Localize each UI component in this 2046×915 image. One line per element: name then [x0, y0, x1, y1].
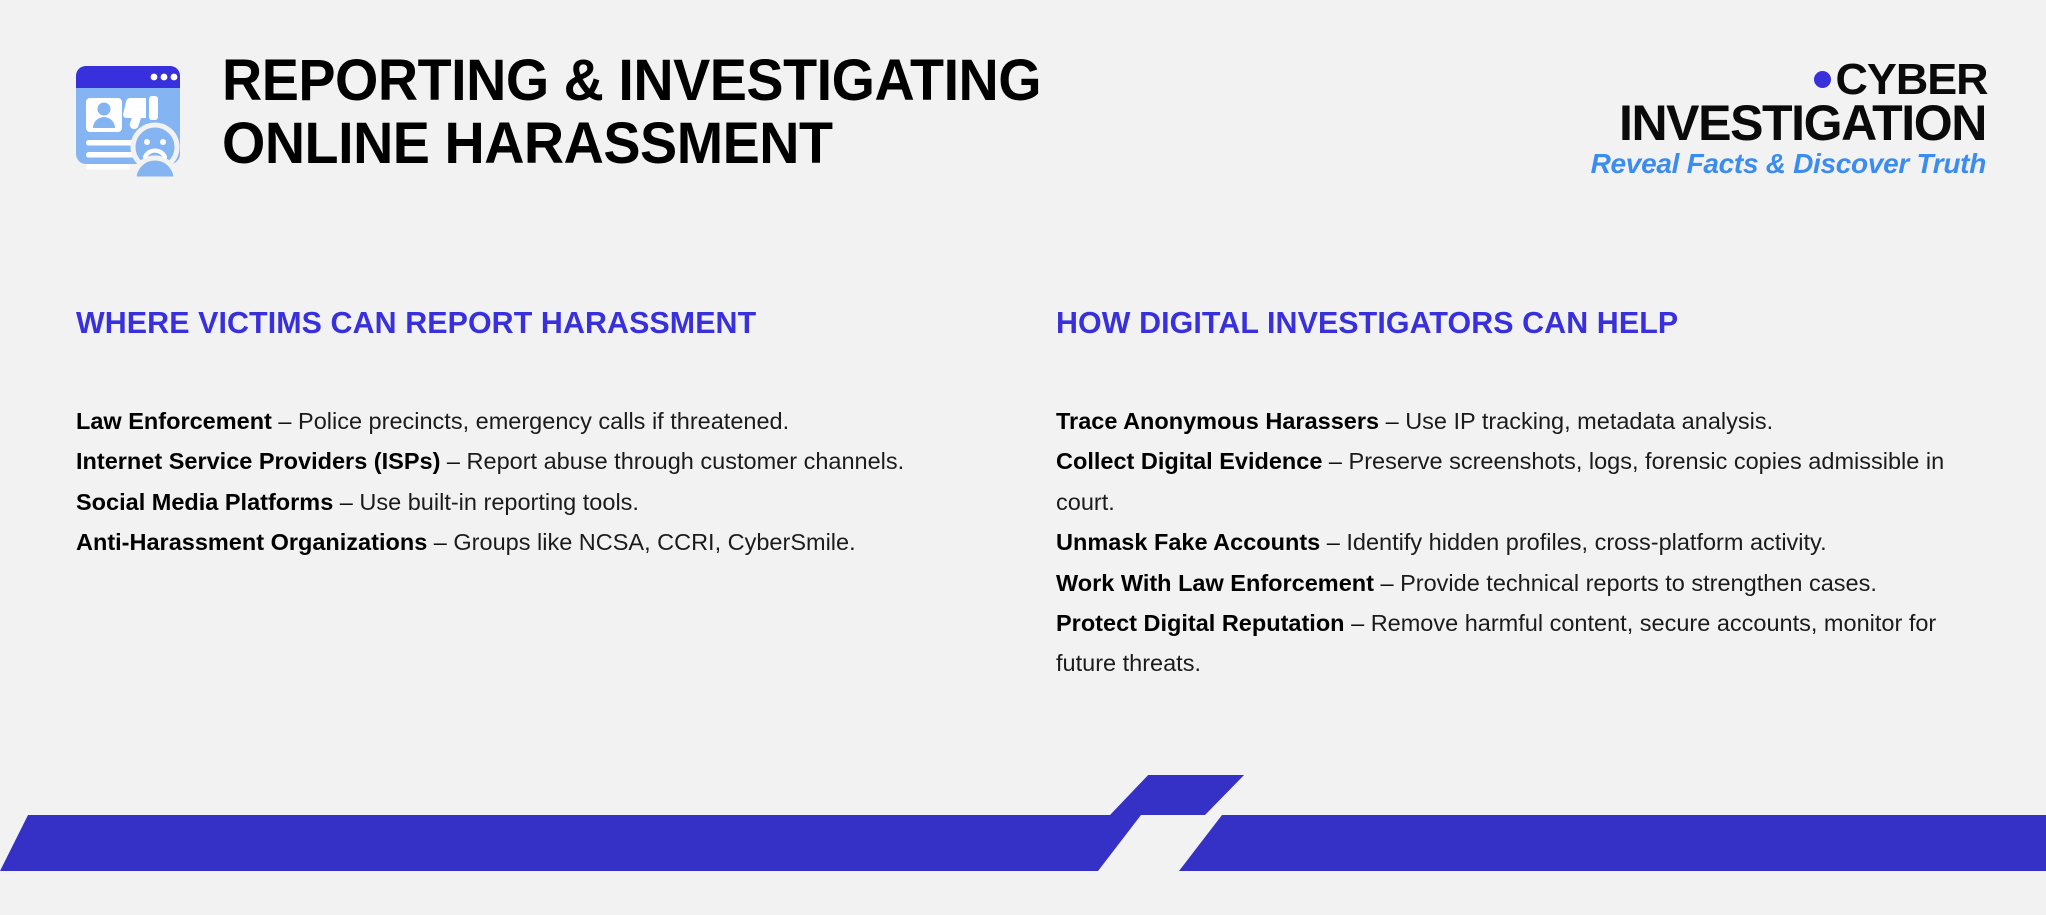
- brand-logo[interactable]: CYBER INVESTIGATION Reveal Facts & Disco…: [1591, 58, 1986, 178]
- list-item: Trace Anonymous Harassers – Use IP track…: [1056, 401, 1956, 441]
- list-item-term: Work With Law Enforcement: [1056, 570, 1374, 596]
- list-item-dash: –: [427, 529, 453, 555]
- list-item-term: Collect Digital Evidence: [1056, 448, 1322, 474]
- list-item-description: Identify hidden profiles, cross-platform…: [1346, 529, 1826, 555]
- column-heading-left: WHERE VICTIMS CAN REPORT HARASSMENT: [76, 305, 1036, 341]
- list-item-term: Protect Digital Reputation: [1056, 610, 1345, 636]
- logo-word-cyber: CYBER: [1835, 58, 1987, 102]
- list-item-description: Report abuse through customer channels.: [467, 448, 905, 474]
- band-left-segment: [0, 815, 1141, 871]
- list-item-description: Use IP tracking, metadata analysis.: [1405, 408, 1773, 434]
- list-item-dash: –: [440, 448, 466, 474]
- list-item-description: Groups like NCSA, CCRI, CyberSmile.: [453, 529, 855, 555]
- list-item-dash: –: [272, 408, 298, 434]
- title-group: REPORTING & INVESTIGATING ONLINE HARASSM…: [72, 50, 1075, 180]
- list-item: Law Enforcement – Police precincts, emer…: [76, 401, 976, 441]
- list-item: Protect Digital Reputation – Remove harm…: [1056, 603, 1956, 684]
- list-item: Unmask Fake Accounts – Identify hidden p…: [1056, 522, 1956, 562]
- bottom-blue-band-with-parallelogram: [0, 775, 2046, 915]
- logo-tagline: Reveal Facts & Discover Truth: [1591, 150, 1986, 178]
- list-item-dash: –: [333, 489, 359, 515]
- column-how-investigators-help: HOW DIGITAL INVESTIGATORS CAN HELP Trace…: [1056, 305, 2036, 684]
- bullet-list-left: Law Enforcement – Police precincts, emer…: [76, 401, 1056, 563]
- logo-dot-icon: [1814, 71, 1831, 88]
- list-item: Anti-Harassment Organizations – Groups l…: [76, 522, 976, 562]
- bullet-list-right: Trace Anonymous Harassers – Use IP track…: [1056, 401, 2036, 684]
- list-item: Work With Law Enforcement – Provide tech…: [1056, 563, 1956, 603]
- column-where-to-report: WHERE VICTIMS CAN REPORT HARASSMENT Law …: [76, 305, 1056, 684]
- band-right-segment: [1179, 815, 2046, 871]
- list-item-description: Police precincts, emergency calls if thr…: [298, 408, 789, 434]
- list-item-term: Anti-Harassment Organizations: [76, 529, 427, 555]
- list-item-dash: –: [1320, 529, 1346, 555]
- list-item-dash: –: [1322, 448, 1348, 474]
- online-harassment-report-icon: [72, 62, 184, 180]
- list-item-term: Unmask Fake Accounts: [1056, 529, 1320, 555]
- list-item-dash: –: [1374, 570, 1400, 596]
- page-title: REPORTING & INVESTIGATING ONLINE HARASSM…: [222, 50, 1041, 175]
- list-item-term: Social Media Platforms: [76, 489, 333, 515]
- header: REPORTING & INVESTIGATING ONLINE HARASSM…: [72, 50, 1986, 210]
- band-parallelogram-accent: [1110, 775, 1248, 815]
- list-item: Social Media Platforms – Use built-in re…: [76, 482, 976, 522]
- list-item-dash: –: [1345, 610, 1371, 636]
- infographic-poster: REPORTING & INVESTIGATING ONLINE HARASSM…: [0, 0, 2046, 915]
- list-item-description: Use built-in reporting tools.: [359, 489, 639, 515]
- list-item-term: Trace Anonymous Harassers: [1056, 408, 1379, 434]
- list-item: Collect Digital Evidence – Preserve scre…: [1056, 441, 1956, 522]
- list-item-dash: –: [1379, 408, 1405, 434]
- list-item-description: Provide technical reports to strengthen …: [1400, 570, 1877, 596]
- column-heading-right: HOW DIGITAL INVESTIGATORS CAN HELP: [1056, 305, 2016, 341]
- logo-word-investigation: INVESTIGATION: [1591, 98, 1986, 148]
- list-item: Internet Service Providers (ISPs) – Repo…: [76, 441, 976, 481]
- list-item-term: Law Enforcement: [76, 408, 272, 434]
- list-item-term: Internet Service Providers (ISPs): [76, 448, 440, 474]
- content-columns: WHERE VICTIMS CAN REPORT HARASSMENT Law …: [76, 305, 1986, 684]
